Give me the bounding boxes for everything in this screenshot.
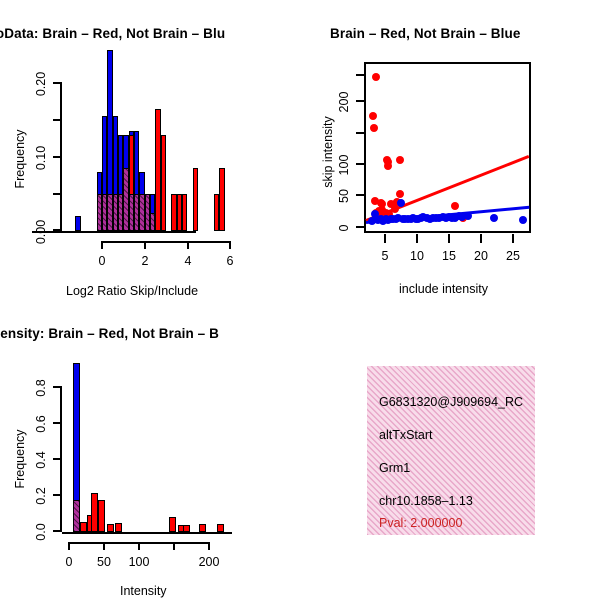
hist-ratio-bar-red [219,168,224,231]
scatter-point-red [451,202,459,210]
scatter-point-blue [397,199,405,207]
scatter-point-red [370,124,378,132]
hist-intensity-bar-red [115,523,122,532]
scatter-point-red [396,190,404,198]
hist-intensity-bar-red [217,524,224,532]
hist-intensity-bar-red [199,524,206,532]
hist-ratio-bar-purple [150,213,155,232]
info-gene-symbol: Grm1 [379,461,410,475]
hist-ratio-bar-red [193,168,198,231]
hist-intensity-bars [0,300,300,600]
info-locus: chr10.1858–1.13 [379,494,473,508]
scatter-point-red [369,112,377,120]
hist-intensity-bar-purple [73,500,80,532]
scatter-point-blue [464,212,472,220]
hist-ratio-bar-blue [75,216,80,231]
scatter-point-blue [490,214,498,222]
panel-scatter-intensity: Brain – Red, Not Brain – Blue skip inten… [300,0,600,300]
hist-ratio-bar-red [182,194,187,231]
info-pvalue: Pval: 2.000000 [379,516,462,530]
info-probe-id: G6831320@J909694_RC [379,395,523,409]
hist-intensity-bar-red [107,524,114,532]
scatter-data-layer [300,0,600,300]
gene-info-panel: G6831320@J909694_RC altTxStart Grm1 chr1… [367,366,535,535]
scatter-point-red [384,162,392,170]
hist-intensity-bar-red [169,517,176,532]
hist-intensity-bar-red [91,493,98,532]
hist-intensity-bar-red [80,522,87,532]
panel-histogram-intensity: ne Itensity: Brain – Red, Not Brain – B … [0,300,300,600]
scatter-point-blue [519,216,527,224]
hist-ratio-bar-red [161,135,166,231]
hist-ratio-bars [0,0,300,300]
scatter-point-red [396,156,404,164]
hist-intensity-bar-red [98,500,105,532]
info-event-type: altTxStart [379,428,433,442]
hist-intensity-bar-red [183,525,190,532]
panel-histogram-ratio: RatioData: Brain – Red, Not Brain – Blu … [0,0,300,300]
scatter-point-red [372,73,380,81]
